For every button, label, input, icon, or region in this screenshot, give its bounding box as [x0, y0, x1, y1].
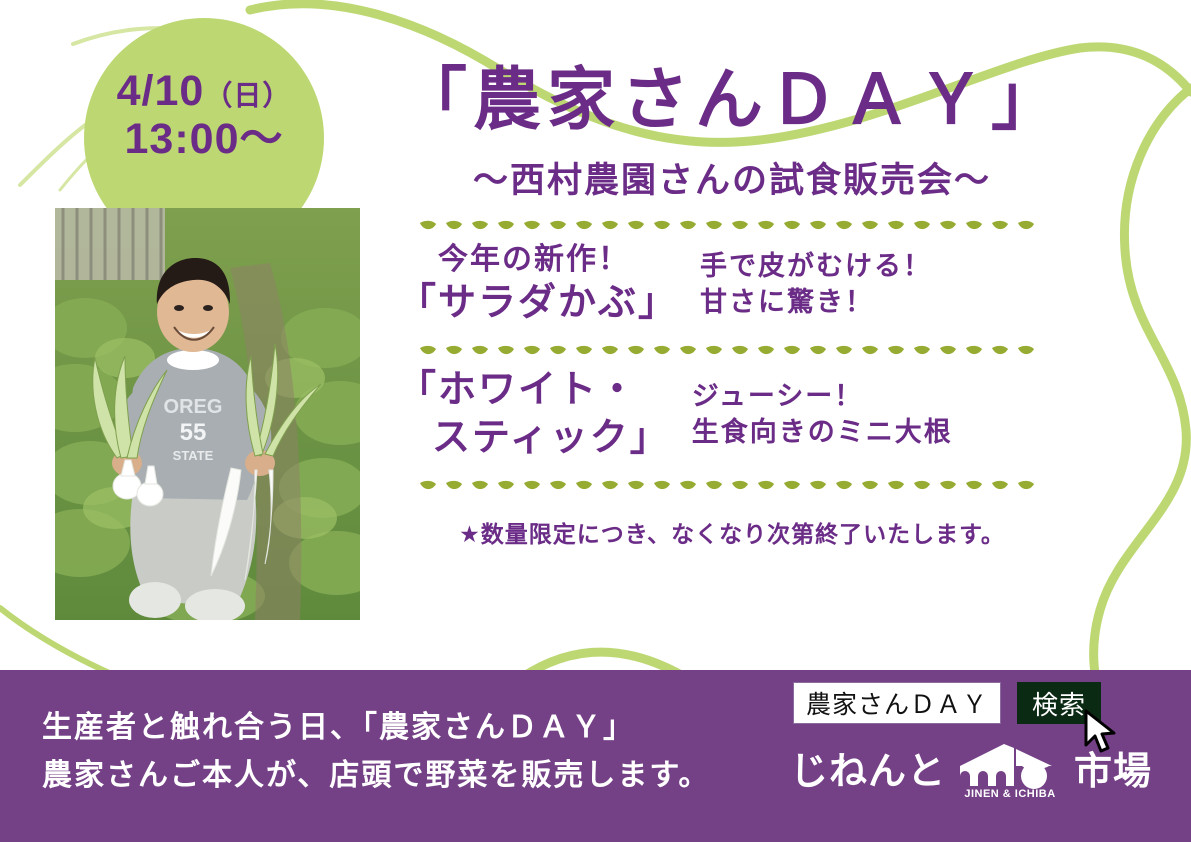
product-1-desc-line-1: 手で皮がむける！ — [700, 248, 932, 284]
market-hall-icon: JINEN & ICHIBA — [952, 736, 1068, 798]
search-input[interactable]: 農家さんＤＡＹ — [793, 682, 1001, 724]
search-widget: 農家さんＤＡＹ 検索 — [793, 682, 1101, 724]
day-of-week: （日） — [204, 80, 291, 111]
limited-quantity-note: ★数量限定につき、なくなり次第終了いたします。 — [392, 515, 1072, 549]
leaf-divider-2 — [420, 344, 1044, 358]
footer-message-line-1: 生産者と触れ合う日、「農家さんＤＡＹ」 — [42, 704, 710, 752]
product-block-1: 今年の新作！ 「サラダかぶ」 手で皮がむける！ 甘さに驚き！ — [398, 241, 1072, 328]
product-1-name: 「サラダかぶ」 — [398, 279, 678, 328]
svg-text:STATE: STATE — [173, 448, 214, 463]
leaf-divider-3 — [420, 479, 1044, 493]
product-1-lead: 今年の新作！ — [398, 241, 678, 279]
footer-message: 生産者と触れ合う日、「農家さんＤＡＹ」 農家さんご本人が、店頭で野菜を販売します… — [42, 704, 710, 800]
page-subtitle: 〜西村農園さんの試食販売会〜 — [392, 152, 1072, 203]
logo-romaji: JINEN & ICHIBA — [952, 788, 1068, 800]
product-2-title-group: 「ホワイト・ スティック」 — [398, 366, 670, 463]
main-content: 「農家さんＤＡＹ」 〜西村農園さんの試食販売会〜 今年の新作！ 「サラダかぶ」 … — [392, 60, 1072, 549]
page-title: 「農家さんＤＡＹ」 — [392, 60, 1072, 142]
product-2-name-line-1: 「ホワイト・ — [398, 366, 670, 415]
logo-text-left: じねんと — [790, 740, 946, 795]
farmer-photo-illustration: OREG 55 STATE — [55, 208, 360, 620]
product-1-title-group: 今年の新作！ 「サラダかぶ」 — [398, 241, 678, 328]
product-1-desc-line-2: 甘さに驚き！ — [700, 284, 932, 320]
product-2-desc-line-2: 生食向きのミニ大根 — [692, 414, 953, 450]
product-2-name-line-2: スティック」 — [398, 414, 670, 463]
date-badge-time: 13:00〜 — [125, 115, 284, 164]
logo-text-right: 市場 — [1074, 740, 1152, 795]
leaf-divider-1 — [420, 219, 1044, 233]
footer-bar: 生産者と触れ合う日、「農家さんＤＡＹ」 農家さんご本人が、店頭で野菜を販売します… — [0, 670, 1191, 842]
poster-canvas: 4/10（日） 13:00〜 — [0, 0, 1191, 842]
product-block-2: 「ホワイト・ スティック」 ジューシー！ 生食向きのミニ大根 — [398, 366, 1072, 463]
svg-text:55: 55 — [180, 419, 207, 446]
farmer-photo: OREG 55 STATE — [55, 208, 360, 620]
footer-message-line-2: 農家さんご本人が、店頭で野菜を販売します。 — [42, 752, 710, 800]
svg-text:OREG: OREG — [164, 396, 223, 418]
date-badge-date: 4/10（日） — [117, 68, 292, 115]
brand-logo: じねんと JINEN & ICHIBA 市場 — [790, 736, 1152, 798]
product-2-description: ジューシー！ 生食向きのミニ大根 — [692, 378, 953, 450]
product-2-desc-line-1: ジューシー！ — [692, 378, 953, 414]
product-1-description: 手で皮がむける！ 甘さに驚き！ — [700, 248, 932, 320]
date-value: 4/10 — [117, 67, 205, 115]
